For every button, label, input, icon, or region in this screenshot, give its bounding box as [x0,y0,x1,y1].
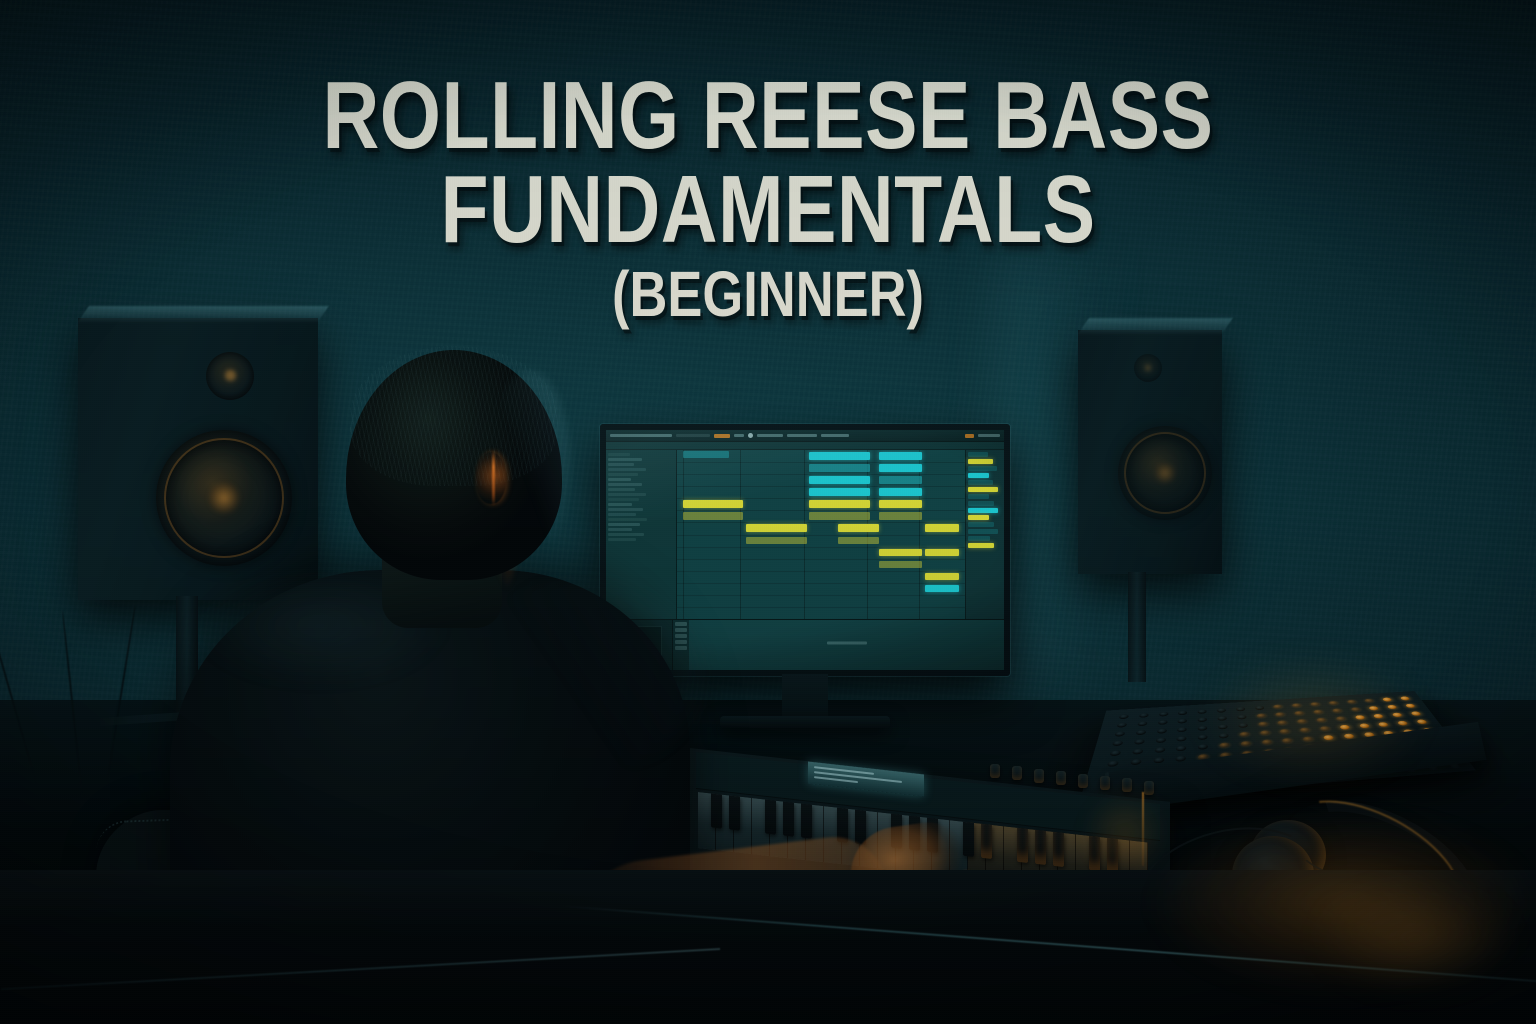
mixer-knob[interactable] [1159,712,1169,717]
arrangement-clip[interactable] [879,512,922,520]
arrangement-clip[interactable] [838,524,878,532]
woofer-right [1118,426,1212,520]
mixer-knob[interactable] [1198,744,1208,750]
arrangement-track-divider [677,498,965,499]
mixer-knob[interactable] [1240,741,1251,747]
device-empty-slot[interactable] [689,620,1004,670]
tweeter-right [1134,354,1162,382]
mixer-knob[interactable] [1178,719,1187,724]
mixer-knob[interactable] [1217,708,1226,713]
arrangement-clip[interactable] [879,561,922,569]
piano-black-key[interactable] [801,803,812,838]
mixer-knob[interactable] [1236,707,1245,712]
return-track-chip[interactable] [968,452,988,457]
mixer-knob[interactable] [1387,705,1398,710]
piano-black-key[interactable] [729,795,740,830]
ear-rim-light [492,450,495,506]
piano-black-key[interactable] [1035,830,1046,865]
mixer-knob[interactable] [1136,730,1146,735]
arrangement-track-divider [677,607,965,608]
mixer-knob[interactable] [1369,706,1380,711]
synth-knob[interactable] [1056,771,1066,785]
mixer-knob[interactable] [1410,711,1422,716]
mixer-knob[interactable] [1139,713,1149,718]
piano-black-key[interactable] [783,801,794,836]
arrangement-track-divider [677,595,965,596]
mixer-knob[interactable] [1310,702,1320,706]
arrangement-track-divider [677,522,965,523]
mixer-knob[interactable] [1258,722,1268,727]
return-track-chip[interactable] [968,501,994,506]
mixer-knob[interactable] [1255,706,1265,711]
mixer-knob[interactable] [1237,715,1247,720]
piano-black-key[interactable] [855,810,866,845]
mixer-knob[interactable] [1332,708,1343,713]
studio-hero-image: ROLLING REESE BASS FUNDAMENTALS (BEGINNE… [0,0,1536,1024]
mixer-knob[interactable] [1134,739,1145,745]
return-track-chip[interactable] [968,473,989,478]
mixer-knob[interactable] [1292,703,1302,708]
mixer-knob[interactable] [1178,711,1187,716]
arrangement-clip[interactable] [809,488,869,496]
mixer-knob[interactable] [1323,735,1334,741]
mixer-knob[interactable] [1277,720,1287,725]
daw-arrangement-grid[interactable] [677,450,965,619]
arrangement-track-divider [677,547,965,548]
speaker-top-edge-left [78,306,329,322]
mixer-knob[interactable] [1350,707,1361,712]
arrangement-clip[interactable] [879,488,922,496]
mixer-knob[interactable] [1219,742,1229,748]
mixer-knob[interactable] [1158,720,1168,725]
monitor-stand-neck [782,674,828,720]
metronome-icon[interactable] [748,433,753,438]
arrangement-track-divider [677,474,965,475]
mixer-knob[interactable] [1239,732,1249,737]
arrangement-clip[interactable] [879,476,922,484]
synth-knob[interactable] [1034,769,1044,783]
arrangement-clip[interactable] [879,500,922,508]
mixer-knob[interactable] [1198,709,1207,714]
mixer-knob[interactable] [1339,725,1350,730]
mixer-knob[interactable] [1219,733,1229,738]
mixer-knob[interactable] [1137,721,1147,726]
mixer-knob[interactable] [1198,735,1208,741]
piano-black-key[interactable] [765,799,776,834]
arrangement-clip[interactable] [925,573,960,581]
arrangement-clip[interactable] [925,585,960,593]
mixer-knob[interactable] [1275,712,1285,717]
producer-ear [476,452,506,504]
mixer-knob[interactable] [1112,740,1123,746]
monitor-stand-base [720,716,890,728]
mixer-knob[interactable] [1392,712,1403,717]
device-drop-hint [827,642,867,645]
mixer-knob[interactable] [1373,714,1384,719]
arrangement-track-divider [677,462,965,463]
return-track-chip[interactable] [968,487,998,492]
return-track-chip[interactable] [968,522,994,527]
piano-black-key[interactable] [711,793,722,828]
mixer-knob[interactable] [1303,736,1314,742]
mixer-knob[interactable] [1416,719,1428,724]
return-track-chip[interactable] [968,536,990,541]
toolbar-text-c [787,434,817,437]
mixer-knob[interactable] [1273,704,1283,709]
toolbar-text-b [757,434,783,437]
return-track-chip[interactable] [968,494,989,499]
arrangement-clip[interactable] [879,452,922,460]
daw-return-tracks[interactable] [965,450,1004,619]
mixer-knob[interactable] [1364,699,1375,703]
arrangement-clip[interactable] [809,476,869,484]
arrangement-clip[interactable] [809,464,869,472]
arrangement-track-divider [677,535,965,536]
synth-knob[interactable] [990,764,1000,778]
mixer-knob[interactable] [1294,711,1304,716]
arrangement-clip[interactable] [925,524,960,532]
arrangement-clip[interactable] [879,464,922,472]
return-track-chip[interactable] [968,466,997,471]
toolbar-tempo [734,434,744,437]
mixer-knob[interactable] [1177,736,1187,742]
return-track-chip[interactable] [968,529,998,534]
toolbar-record-indicator[interactable] [714,434,730,438]
studio-monitor-right [1078,330,1222,574]
mixer-knob[interactable] [1319,726,1330,731]
arrangement-clip[interactable] [746,524,806,532]
mixer-knob[interactable] [1297,719,1307,724]
arrangement-clip[interactable] [809,500,869,508]
mixer-knob[interactable] [1119,714,1129,719]
mixer-knob[interactable] [1354,715,1365,720]
synth-knob[interactable] [1012,766,1022,780]
arrangement-track-divider [677,559,965,560]
piano-black-key[interactable] [981,824,992,859]
mixer-knob[interactable] [1400,696,1411,700]
mixer-knob[interactable] [1316,718,1327,723]
mixer-knob[interactable] [1114,731,1125,736]
mixer-knob[interactable] [1335,716,1346,721]
toolbar-cpu-meter [965,434,974,438]
mixer-knob[interactable] [1217,716,1226,721]
mixer-knob[interactable] [1405,704,1416,709]
arrangement-track-divider [677,583,965,584]
mixer-knob[interactable] [1198,726,1207,731]
mixer-knob[interactable] [1300,727,1311,732]
toolbar-text-right [978,434,1000,437]
arrangement-clip[interactable] [746,537,806,545]
mixer-knob[interactable] [1157,728,1167,733]
mixer-knob[interactable] [1261,739,1272,745]
mixer-knob[interactable] [1155,737,1165,743]
mixer-knob[interactable] [1397,721,1409,726]
arrangement-track-divider [677,571,965,572]
mixer-knob[interactable] [1260,730,1270,735]
mixer-knob[interactable] [1382,697,1393,701]
piano-black-key[interactable] [1017,828,1028,863]
mixer-knob[interactable] [1256,713,1266,718]
arrangement-bar-line [740,450,741,619]
return-track-chip[interactable] [968,459,993,464]
mixer-knob[interactable] [1280,729,1291,734]
mixer-knob[interactable] [1359,723,1370,728]
return-track-chip[interactable] [968,543,994,548]
piano-black-key[interactable] [1053,832,1064,867]
return-track-chip[interactable] [968,508,998,513]
arrangement-track-divider [677,486,965,487]
speaker-top-edge-right [1078,318,1233,334]
mixer-knob[interactable] [1328,701,1338,705]
arrangement-track-divider [677,510,965,511]
return-track-chip[interactable] [968,515,989,520]
toolbar-text-d [821,434,849,437]
mixer-knob[interactable] [1198,717,1207,722]
arrangement-clip[interactable] [838,537,878,545]
mixer-knob[interactable] [1177,727,1187,732]
arrangement-clip[interactable] [809,452,869,460]
mixer-knob[interactable] [1378,722,1390,727]
arrangement-clip[interactable] [925,549,960,557]
desk-amber-pool-2 [1290,880,1536,1010]
mixer-knob[interactable] [1313,710,1323,715]
arrangement-clip[interactable] [879,549,922,557]
mixer-knob[interactable] [1218,724,1228,729]
return-track-chip[interactable] [968,480,993,485]
arrangement-clip[interactable] [809,512,869,520]
mixer-knob[interactable] [1238,723,1248,728]
mixer-knob[interactable] [1346,700,1356,704]
mixer-knob[interactable] [1282,738,1293,744]
mixer-knob[interactable] [1117,723,1128,728]
arrangement-bar-line [804,450,805,619]
